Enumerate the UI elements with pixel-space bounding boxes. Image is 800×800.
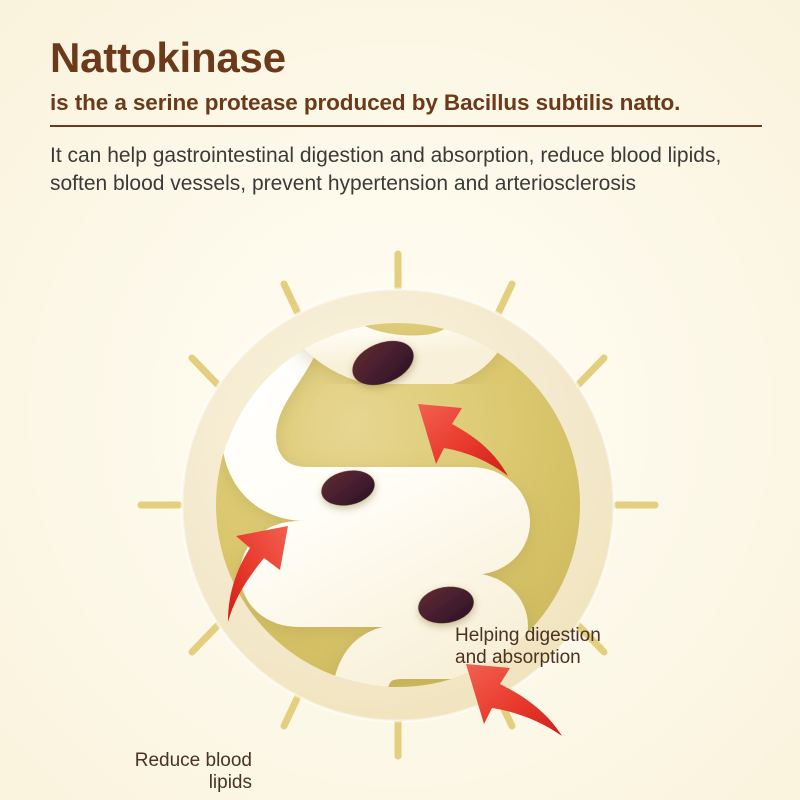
illustration-area: Helping digestion and absorption Reduce … <box>0 232 800 800</box>
ray-icon <box>576 358 604 387</box>
callout-label-lipids: Reduce blood lipids <box>92 750 252 795</box>
infographic-canvas: Nattokinase is the a serine protease pro… <box>0 0 800 800</box>
callout-label-digestion: Helping digestion and absorption <box>455 625 601 670</box>
description-paragraph: It can help gastrointestinal digestion a… <box>50 142 750 197</box>
intestine-illustration-svg <box>0 232 800 800</box>
header-divider <box>50 125 762 127</box>
ray-icon <box>192 358 220 387</box>
page-subtitle: is the a serine protease produced by Bac… <box>50 89 762 116</box>
ray-icon <box>192 623 220 652</box>
header-block: Nattokinase is the a serine protease pro… <box>50 36 762 198</box>
page-title: Nattokinase <box>50 36 762 80</box>
